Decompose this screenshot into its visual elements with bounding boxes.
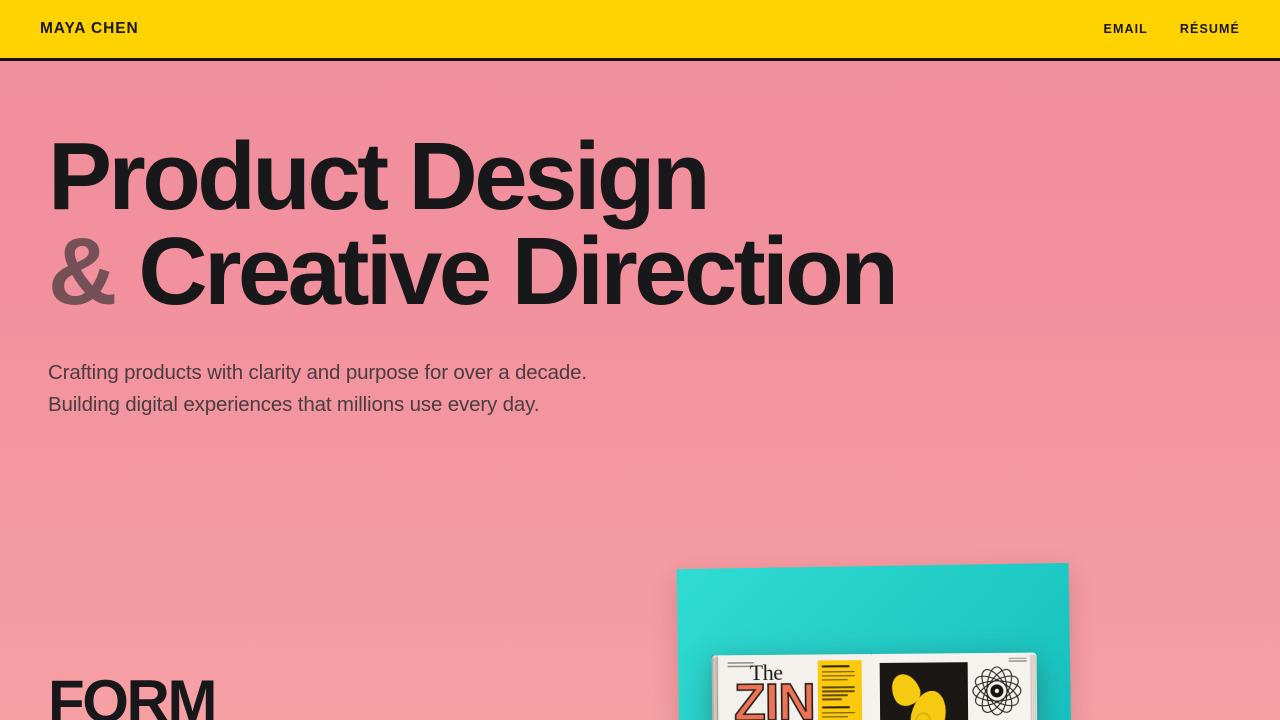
open-magazine: The ZIN <box>712 653 1038 720</box>
section-heading-form: FORM <box>48 672 215 720</box>
text-line <box>822 671 855 673</box>
brand-logo[interactable]: MAYA CHEN <box>40 20 139 38</box>
atom-diagram <box>971 665 1023 717</box>
text-line <box>822 716 848 718</box>
magazine-left-page: The ZIN <box>712 654 873 720</box>
page-title: Product Design & Creative Direction <box>48 129 1280 319</box>
pear-illustration <box>880 662 969 720</box>
magazine-folio-lines <box>1009 658 1027 663</box>
headline-line-2: & Creative Direction <box>48 224 1280 319</box>
primary-nav: EMAIL RÉSUMÉ <box>1104 22 1240 36</box>
headline-ampersand: & <box>48 218 115 325</box>
text-line <box>822 687 855 689</box>
site-header: MAYA CHEN EMAIL RÉSUMÉ <box>0 0 1280 61</box>
subtitle-line-1: Crafting products with clarity and purpo… <box>48 357 1280 389</box>
magazine-gutter <box>712 655 719 720</box>
nav-link-email[interactable]: EMAIL <box>1104 22 1148 36</box>
hero-section: Product Design & Creative Direction Craf… <box>0 61 1280 422</box>
text-line <box>822 679 848 681</box>
text-line <box>822 675 855 677</box>
text-line <box>822 691 855 693</box>
subtitle-line-2: Building digital experiences that millio… <box>48 389 1280 421</box>
magazine-right-page <box>872 653 1038 720</box>
magazine-title: ZIN <box>734 677 815 720</box>
text-line <box>822 695 848 697</box>
text-line <box>822 665 850 668</box>
headline-line-1: Product Design <box>48 129 1280 224</box>
text-line <box>822 706 850 709</box>
page-root: MAYA CHEN EMAIL RÉSUMÉ Product Design & … <box>0 0 1280 720</box>
magazine-yellow-text-column <box>818 660 863 720</box>
headline-line-2-text: Creative Direction <box>138 218 895 325</box>
showcase-image[interactable]: The ZIN <box>672 560 1076 720</box>
text-line <box>822 699 842 701</box>
nav-link-resume[interactable]: RÉSUMÉ <box>1180 22 1240 36</box>
hero-subtitle: Crafting products with clarity and purpo… <box>48 357 1280 422</box>
text-line <box>822 712 855 714</box>
page-edge-right <box>1030 655 1038 720</box>
